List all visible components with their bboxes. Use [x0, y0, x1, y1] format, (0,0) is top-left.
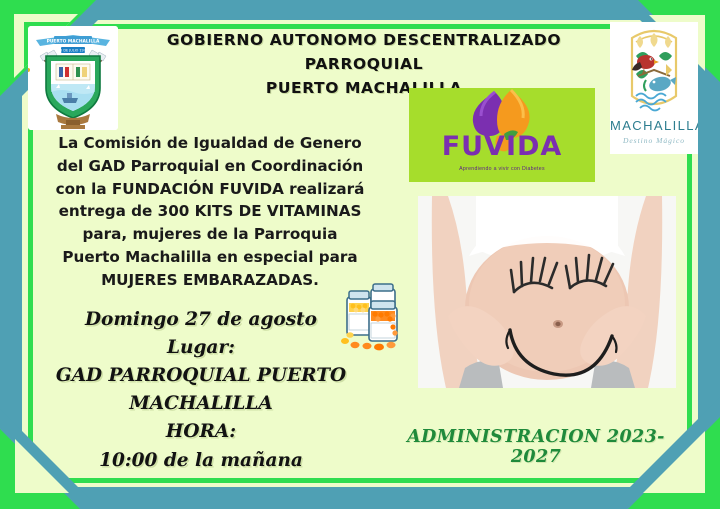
svg-text:PUERTO MACHALILLA: PUERTO MACHALILLA — [47, 39, 100, 45]
coat-of-arms-logo: PUERTO MACHALILLA 23 DE JULIO 1979 — [28, 26, 118, 130]
coat-of-arms-icon: PUERTO MACHALILLA 23 DE JULIO 1979 — [28, 26, 118, 130]
event-time-value: 10:00 de la mañana — [22, 447, 380, 475]
machalilla-emblem-icon — [610, 22, 698, 118]
body-line-2: del GAD Parroquial en Coordinación — [24, 155, 396, 178]
header-line-1: GOBIERNO AUTONOMO DESCENTRALIZADO PARROQ… — [167, 31, 561, 73]
event-details: Domingo 27 de agosto Lugar: GAD PARROQUI… — [22, 306, 380, 475]
pregnant-woman-photo — [418, 196, 676, 388]
event-date: Domingo 27 de agosto — [22, 306, 380, 334]
event-place-label: Lugar: — [22, 334, 380, 362]
event-time-label: HORA: — [22, 418, 380, 446]
machalilla-logo-name: MACHALILLA — [610, 118, 698, 133]
event-place-line-2: MACHALILLA — [22, 390, 380, 418]
fuvida-logo: FUVIDA Aprendiendo a vivir con Diabetes — [409, 88, 595, 182]
vitamin-bottles-icon — [333, 283, 419, 363]
event-place-line-1: GAD PARROQUIAL PUERTO — [22, 362, 380, 390]
body-line-6: Puerto Machalilla en especial para — [24, 246, 396, 269]
pregnant-belly-smiley-image — [418, 196, 676, 388]
svg-text:23 DE JULIO 1979: 23 DE JULIO 1979 — [58, 49, 88, 53]
vitamin-bottles-image — [333, 283, 419, 363]
body-line-4: entrega de 300 KITS DE VITAMINAS — [24, 200, 396, 223]
poster-canvas: PUERTO MACHALILLA 23 DE JULIO 1979 — [0, 0, 720, 509]
fuvida-wordmark: FUVIDA — [409, 131, 595, 162]
administration-footer: ADMINISTRACION 2023-2027 — [388, 427, 684, 467]
body-line-1: La Comisión de Igualdad de Genero — [24, 132, 396, 155]
body-line-5: para, mujeres de la Parroquia — [24, 223, 396, 246]
fuvida-tagline: Aprendiendo a vivir con Diabetes — [409, 166, 595, 172]
frame-line-bottom — [28, 478, 692, 483]
machalilla-destination-logo: MACHALILLA Destino Mágico — [610, 22, 698, 154]
body-line-3: con la FUNDACIÓN FUVIDA realizará — [24, 178, 396, 201]
announcement-body: La Comisión de Igualdad de Genero del GA… — [24, 132, 396, 292]
machalilla-logo-tagline: Destino Mágico — [610, 136, 698, 145]
